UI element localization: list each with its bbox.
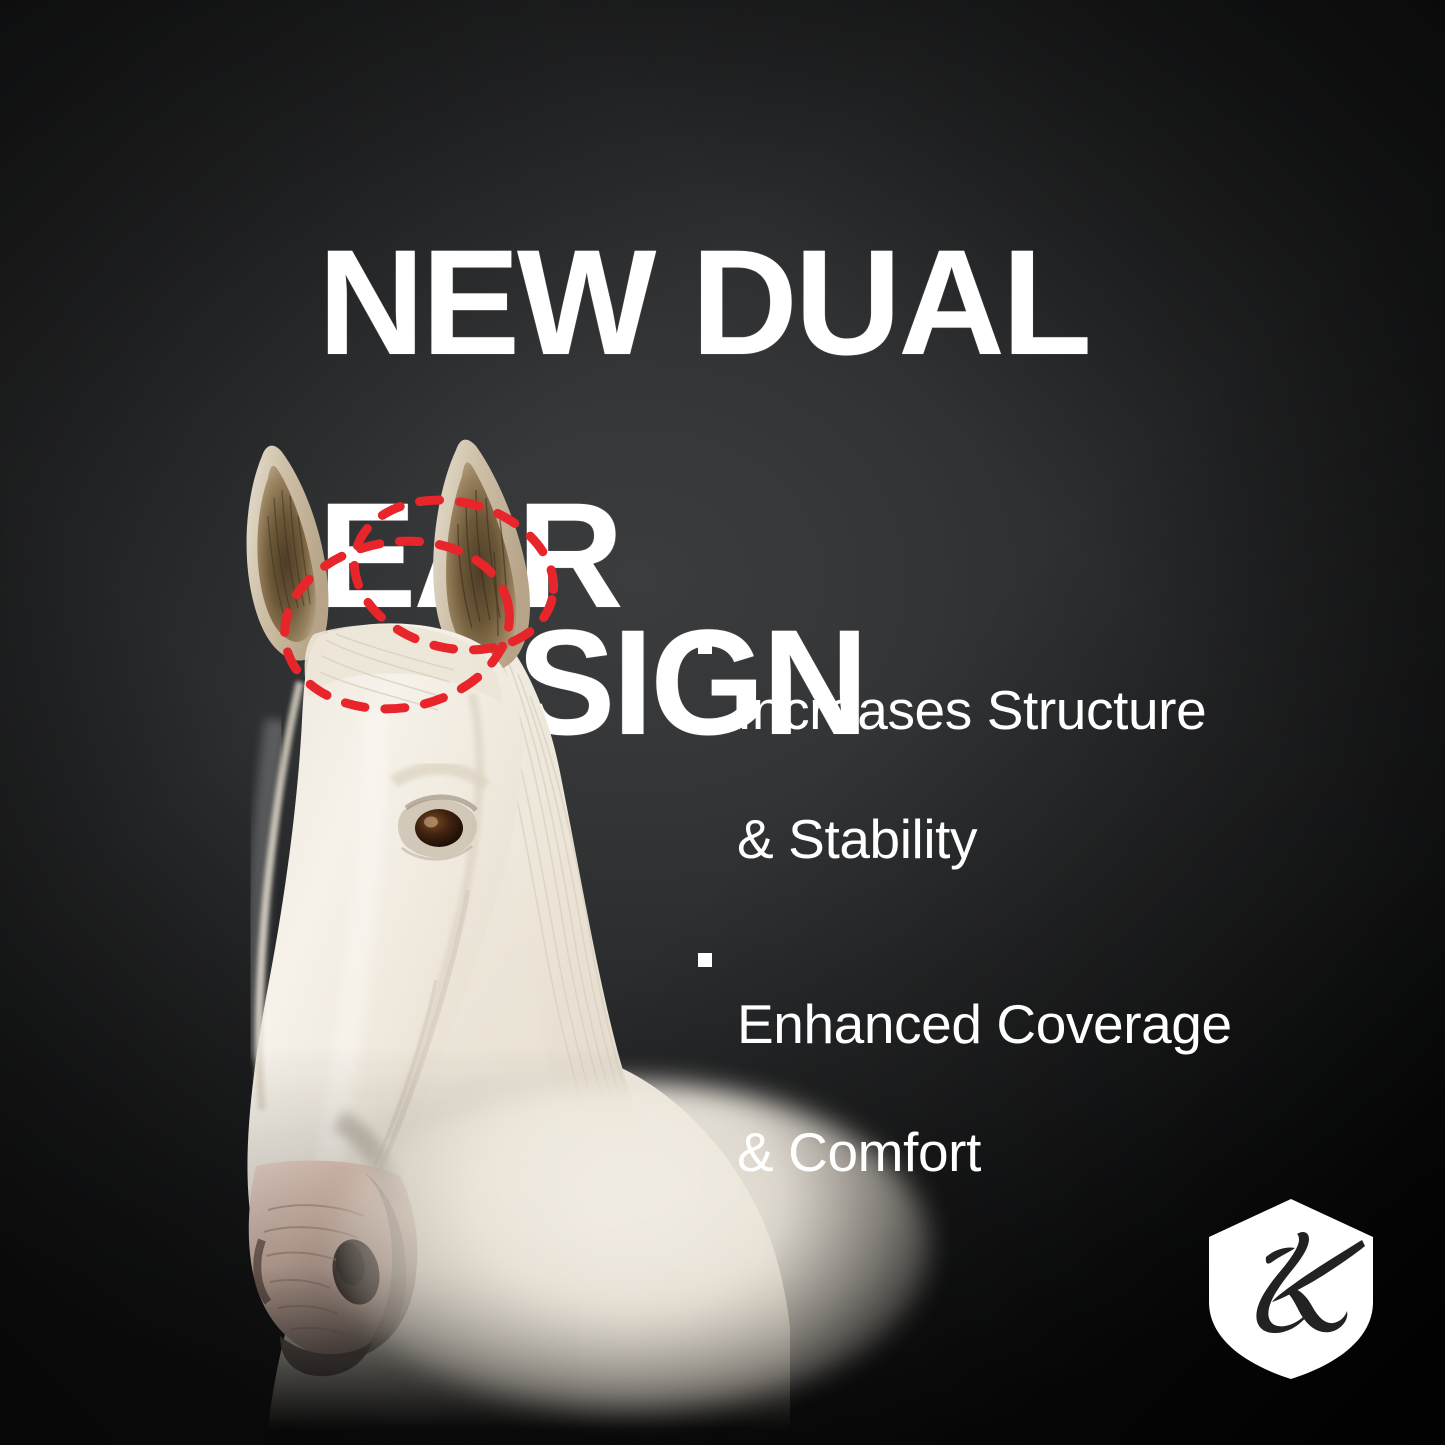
list-item: Enhanced Coverage & Comfort xyxy=(698,927,1358,1184)
feature-2-line-2: & Comfort xyxy=(737,1121,981,1183)
feature-1-line-1: Increases Structure xyxy=(737,679,1206,741)
list-item: Increases Structure & Stability xyxy=(698,614,1358,871)
feature-1-line-2: & Stability xyxy=(737,808,977,870)
feature-2-line-1: Enhanced Coverage xyxy=(737,993,1232,1055)
promo-image-canvas: NEW DUAL EAR DESIGN xyxy=(0,0,1445,1445)
horse-left-ear xyxy=(247,446,329,661)
square-bullet-icon xyxy=(698,953,712,967)
square-bullet-icon xyxy=(698,640,712,654)
feature-list: Increases Structure & Stability Enhanced… xyxy=(698,614,1358,1185)
brand-logo xyxy=(1202,1196,1380,1382)
shield-k-logo-icon xyxy=(1202,1196,1380,1382)
headline-line-1: NEW DUAL xyxy=(318,239,1205,366)
feature-text-1: Increases Structure & Stability xyxy=(737,614,1206,871)
feature-text-2: Enhanced Coverage & Comfort xyxy=(737,927,1232,1184)
horse-head-graphic xyxy=(150,420,790,1430)
horse-illustration xyxy=(150,420,790,1430)
